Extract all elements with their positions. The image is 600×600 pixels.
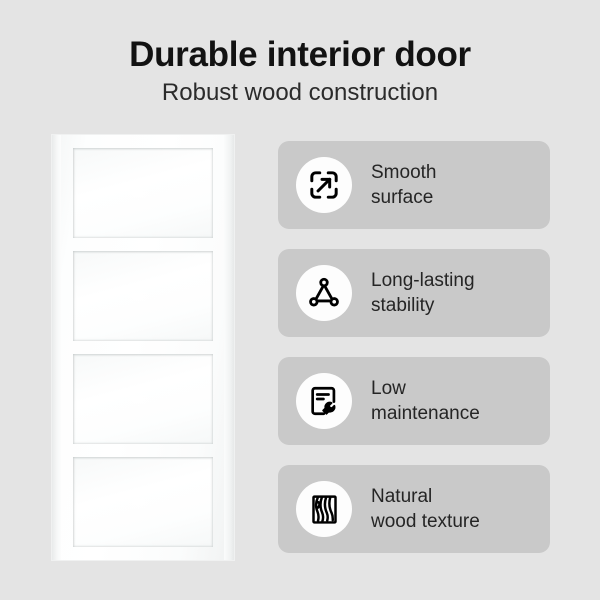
page-title: Durable interior door <box>0 34 600 76</box>
feature-card-natural-wood-texture[interactable]: Natural wood texture <box>278 465 550 553</box>
triangle-nodes-icon <box>296 265 352 321</box>
feature-card-smooth-surface[interactable]: Smooth surface <box>278 141 550 229</box>
wood-grain-icon <box>296 481 352 537</box>
door-panel <box>73 354 213 444</box>
door-panel-group <box>73 148 213 547</box>
document-wrench-icon <box>296 373 352 429</box>
expand-arrow-icon <box>296 157 352 213</box>
feature-label: Low maintenance <box>371 376 480 426</box>
product-image <box>52 135 234 560</box>
page-subtitle: Robust wood construction <box>0 78 600 108</box>
door-panel <box>73 457 213 547</box>
feature-card-low-maintenance[interactable]: Low maintenance <box>278 357 550 445</box>
door-panel <box>73 148 213 238</box>
feature-card-long-lasting-stability[interactable]: Long-lasting stability <box>278 249 550 337</box>
page-header: Durable interior door Robust wood constr… <box>0 34 600 108</box>
door-illustration <box>52 135 234 560</box>
door-left-stile <box>52 135 61 560</box>
feature-label: Natural wood texture <box>371 484 480 534</box>
feature-list: Smooth surface Long-lasting stability Lo… <box>278 141 550 553</box>
feature-label: Smooth surface <box>371 160 436 210</box>
feature-label: Long-lasting stability <box>371 268 475 318</box>
door-panel <box>73 251 213 341</box>
door-right-stile <box>224 135 234 560</box>
